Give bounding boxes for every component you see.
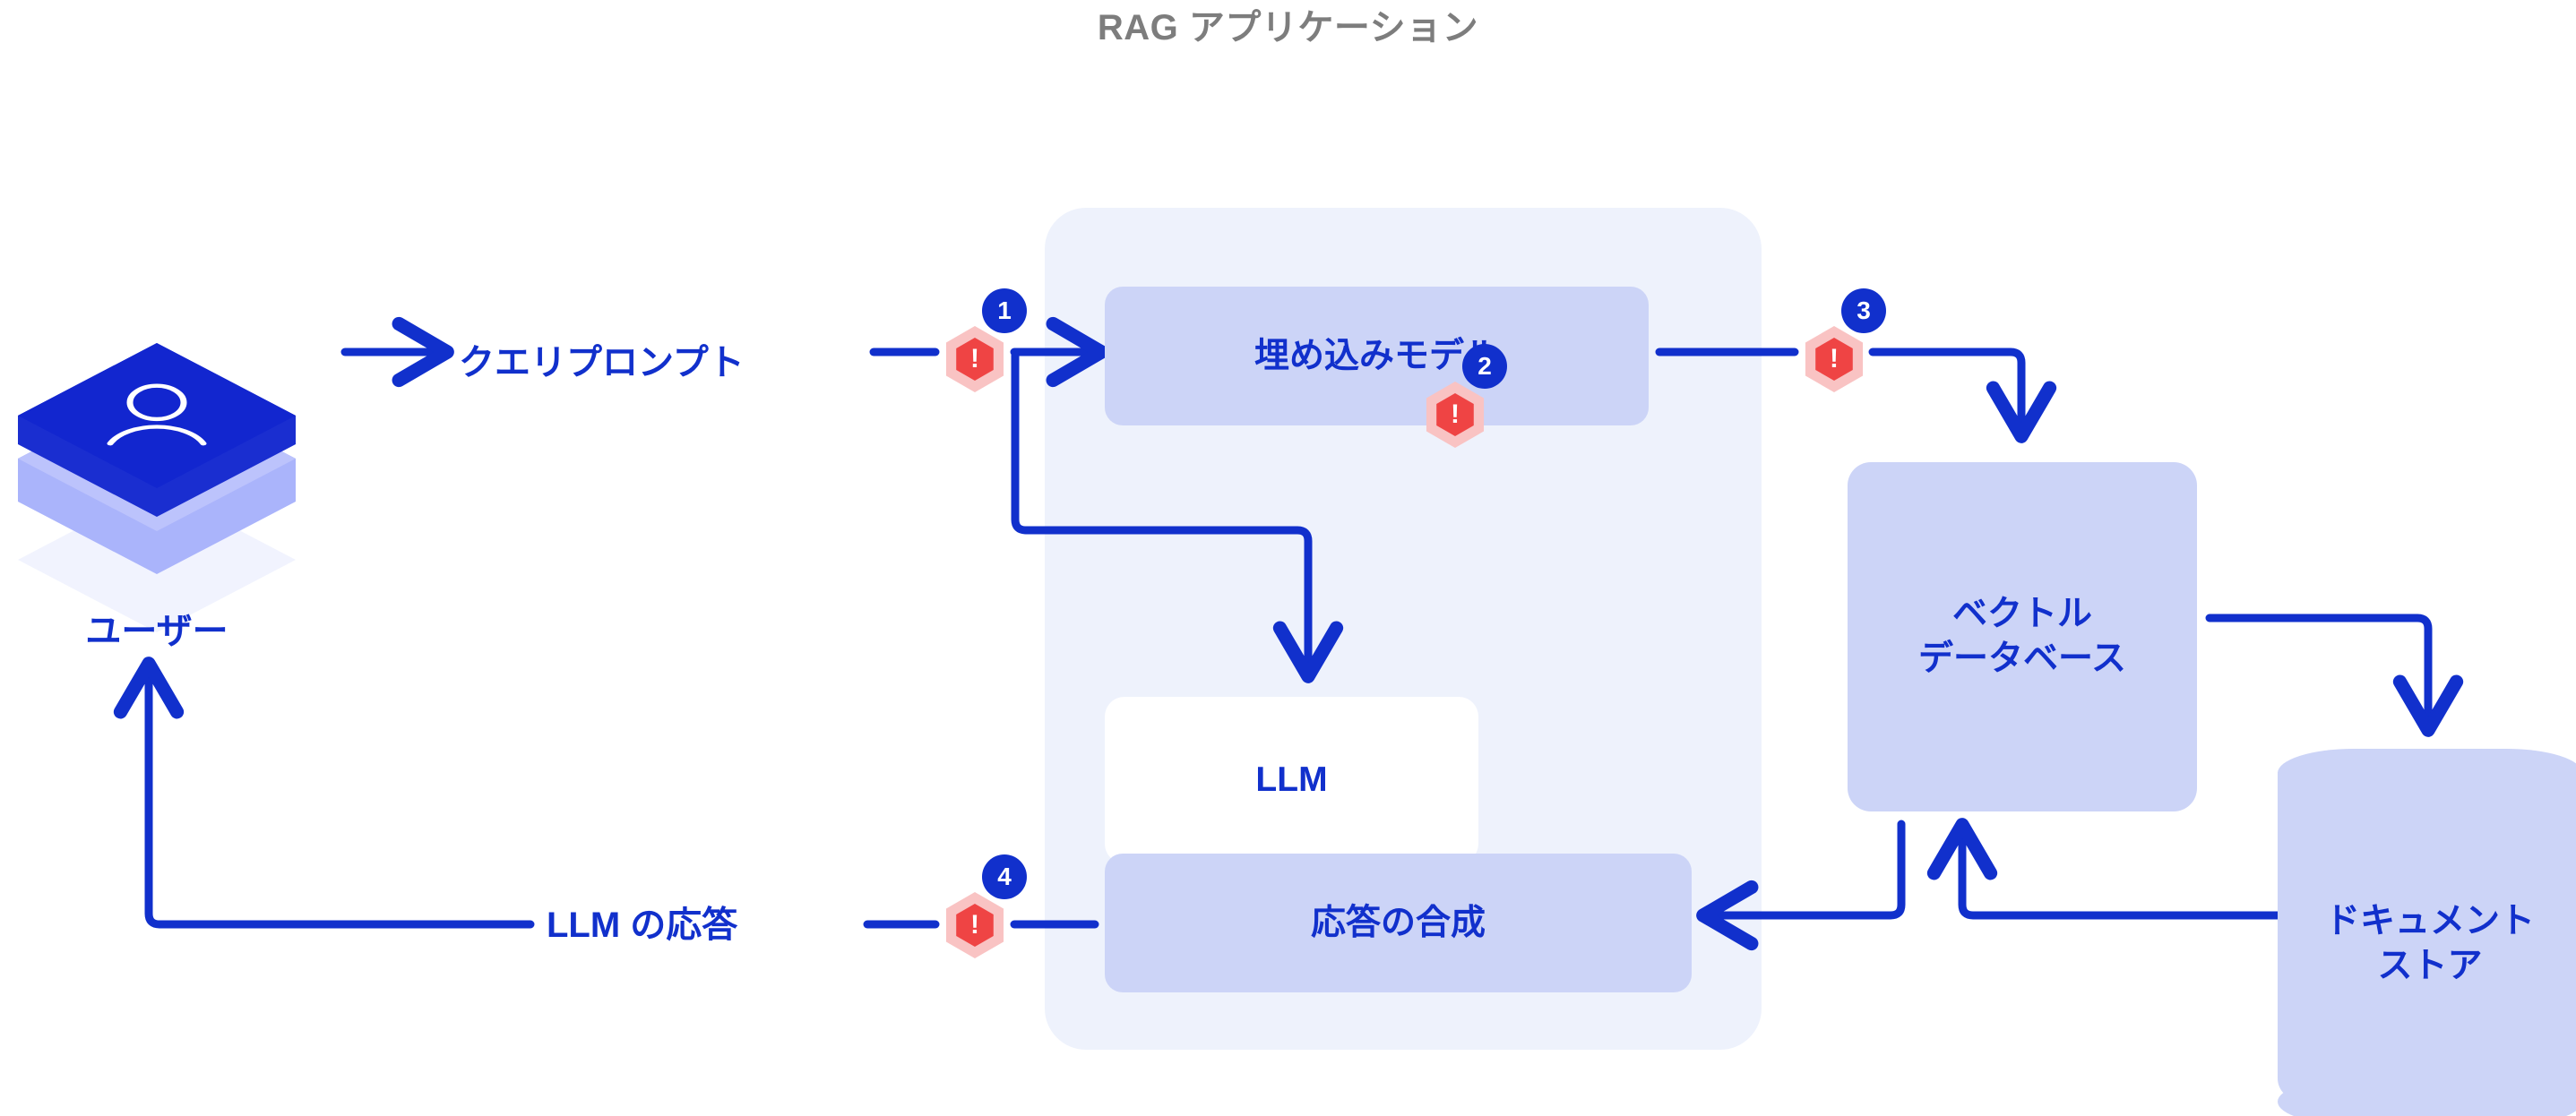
step-badge-2[interactable]: 2 bbox=[1462, 344, 1507, 389]
edge-warn3-to-vectordb bbox=[1873, 352, 2021, 430]
warning-hexagon-icon-4[interactable]: ! bbox=[942, 892, 1008, 958]
vector-database-line-2: データベース bbox=[1918, 637, 2126, 682]
query-prompt-label: クエリプロンプト bbox=[459, 333, 745, 385]
document-store-line-2: ストア bbox=[2278, 944, 2576, 989]
cylinder-top-ellipse bbox=[2278, 749, 2576, 797]
node-embedding-model[interactable]: 埋め込みモデル bbox=[1105, 287, 1649, 425]
node-vector-database[interactable]: ベクトル データベース bbox=[1848, 462, 2197, 811]
exclamation-icon: ! bbox=[942, 326, 1008, 392]
document-store-label: ドキュメント ストア bbox=[2278, 899, 2576, 989]
node-document-store[interactable]: ドキュメント ストア bbox=[2278, 749, 2576, 1116]
warning-hexagon-icon-1[interactable]: ! bbox=[942, 326, 1008, 392]
edge-docstore-to-vectordb bbox=[1962, 831, 2287, 915]
vector-database-line-1: ベクトル bbox=[1952, 592, 2092, 637]
diagram-canvas: RAG アプリケーション bbox=[0, 0, 2576, 1116]
edge-vectordb-to-docstore bbox=[2210, 618, 2428, 724]
exclamation-icon: ! bbox=[942, 892, 1008, 958]
step-badge-3[interactable]: 3 bbox=[1841, 288, 1886, 333]
cylinder-bottom-ellipse bbox=[2278, 1078, 2576, 1116]
edge-response-to-user bbox=[149, 670, 530, 924]
step-badge-4[interactable]: 4 bbox=[982, 854, 1027, 899]
llm-response-label: LLM の応答 bbox=[547, 896, 737, 948]
step-badge-1[interactable]: 1 bbox=[982, 288, 1027, 333]
node-response-synthesis[interactable]: 応答の合成 bbox=[1105, 854, 1692, 992]
document-store-line-1: ドキュメント bbox=[2278, 899, 2576, 944]
edge-vectordb-to-synthesis bbox=[1710, 824, 1901, 915]
node-llm[interactable]: LLM bbox=[1105, 697, 1478, 863]
user-label: ユーザー bbox=[0, 602, 314, 654]
user-cube-icon bbox=[0, 269, 314, 645]
exclamation-icon: ! bbox=[1801, 326, 1867, 392]
warning-hexagon-icon-2[interactable]: ! bbox=[1422, 382, 1488, 448]
warning-hexagon-icon-3[interactable]: ! bbox=[1801, 326, 1867, 392]
exclamation-icon: ! bbox=[1422, 382, 1488, 448]
user-node[interactable] bbox=[0, 269, 314, 645]
